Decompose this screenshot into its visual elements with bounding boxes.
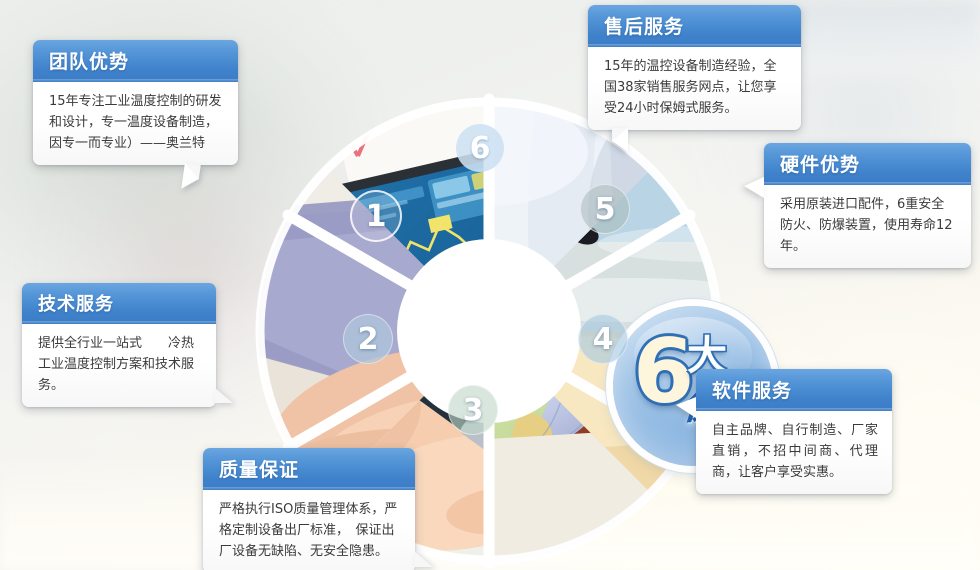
callout-body-team: 15年专注工业温度控制的研发和设计，专一温度设备制造，因专一而专业）——奥兰特 — [33, 82, 238, 165]
callout-body-technical: 提供全行业一站式 冷热工业温度控制方案和技术服务。 — [22, 324, 216, 407]
callout-card-team[interactable]: 团队优势 15年专注工业温度控制的研发和设计，专一温度设备制造，因专一而专业）—… — [33, 40, 238, 165]
callout-card-quality[interactable]: 质量保证 严格执行ISO质量管理体系，严格定制设备出厂标准， 保证出厂设备无缺陷… — [203, 448, 415, 570]
callout-tail-hardware — [744, 177, 764, 198]
callout-body-software: 自主品牌、自行制造、厂家直销，不招中间商、代理商，让客户享受实惠。 — [696, 411, 892, 494]
callout-body-quality: 严格执行ISO质量管理体系，严格定制设备出厂标准， 保证出厂设备无缺陷、无安全隐… — [203, 490, 415, 570]
segment-number-5[interactable]: 5 — [580, 184, 630, 234]
segment-number-1[interactable]: 1 — [350, 190, 402, 242]
callout-title-technical: 技术服务 — [22, 283, 216, 324]
callout-tail-quality — [414, 551, 433, 567]
callout-body-hardware: 采用原装进口配件，6重安全防火、防爆装置，使用寿命12年。 — [764, 185, 971, 268]
callout-tail-after-sales — [612, 128, 628, 152]
callout-body-after-sales: 15年的温控设备制造经验，全国38家销售服务网点，让您享受24小时保姆式服务。 — [588, 47, 801, 130]
callout-card-technical[interactable]: 技术服务 提供全行业一站式 冷热工业温度控制方案和技术服务。 — [22, 283, 216, 407]
callout-title-team: 团队优势 — [33, 40, 238, 82]
callout-card-after-sales[interactable]: 售后服务 15年的温控设备制造经验，全国38家销售服务网点，让您享受24小时保姆… — [588, 5, 801, 130]
callout-title-software: 软件服务 — [696, 369, 892, 411]
segment-number-3[interactable]: 3 — [448, 385, 498, 435]
callout-title-after-sales: 售后服务 — [588, 5, 801, 47]
callout-tail-technical — [215, 388, 233, 403]
callout-card-hardware[interactable]: 硬件优势 采用原装进口配件，6重安全防火、防爆装置，使用寿命12年。 — [764, 143, 971, 268]
segment-number-6[interactable]: 6 — [456, 124, 504, 172]
callout-tail-software — [676, 397, 696, 418]
callout-card-software[interactable]: 软件服务 自主品牌、自行制造、厂家直销，不招中间商、代理商，让客户享受实惠。 — [696, 369, 892, 494]
infographic-canvas: INTC 440.96 — [0, 0, 980, 570]
segment-number-4[interactable]: 4 — [578, 314, 628, 364]
callout-title-hardware: 硬件优势 — [764, 143, 971, 185]
segment-number-2[interactable]: 2 — [343, 314, 393, 364]
callout-title-quality: 质量保证 — [203, 448, 415, 490]
